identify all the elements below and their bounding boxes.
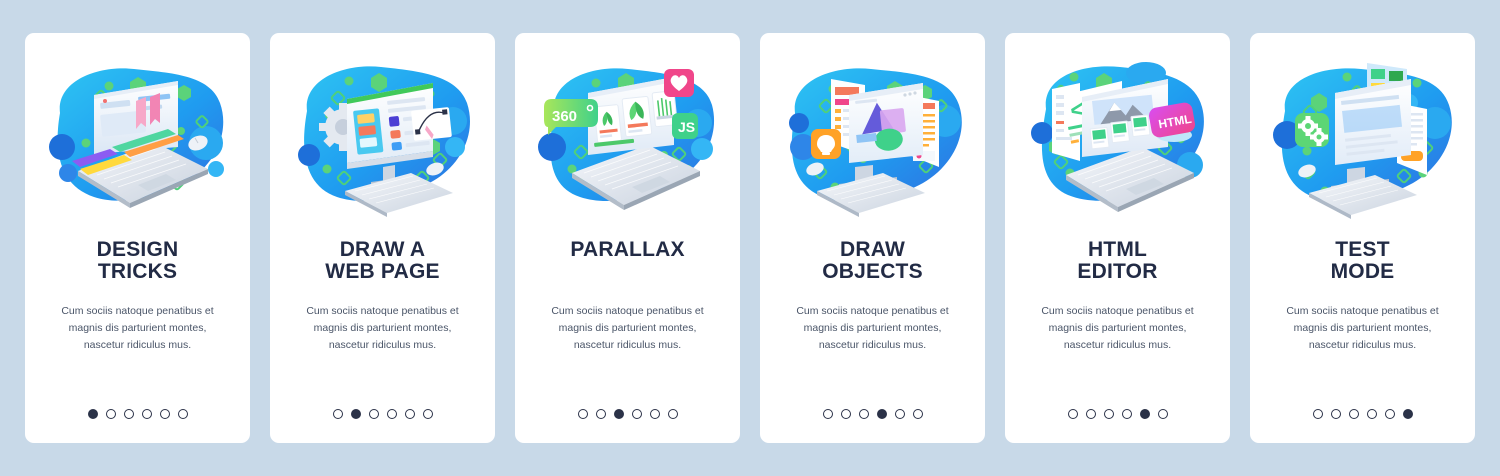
onboarding-card-parallax[interactable]: 360 JS PARALLAX Cum sociis natoque penat…: [515, 33, 740, 443]
onboarding-card-test-mode[interactable]: TEST MODE Cum sociis natoque penatibus e…: [1250, 33, 1475, 443]
title-line-1: PARALLAX: [570, 239, 684, 261]
page-title: TEST MODE: [1323, 239, 1403, 285]
desktop-draw-objects-illustration: [773, 51, 973, 221]
pagination-dot-5[interactable]: [1385, 409, 1395, 419]
title-line-2: TRICKS: [97, 261, 179, 283]
card-description: Cum sociis natoque penatibus et magnis d…: [1028, 303, 1208, 354]
desktop-test-mode-illustration: [1263, 51, 1463, 221]
svg-text:JS: JS: [678, 119, 695, 135]
pagination-dot-3[interactable]: [1104, 409, 1114, 419]
pagination-dot-6[interactable]: [423, 409, 433, 419]
title-line-1: TEST: [1331, 239, 1395, 261]
pagination-dot-2[interactable]: [1086, 409, 1096, 419]
pagination-dot-3[interactable]: [859, 409, 869, 419]
laptop-parallax-illustration: 360 JS: [528, 51, 728, 221]
pagination-dot-5[interactable]: [405, 409, 415, 419]
title-line-1: DRAW: [822, 239, 923, 261]
card-description: Cum sociis natoque penatibus et magnis d…: [48, 303, 228, 354]
title-line-1: DESIGN: [97, 239, 179, 261]
pagination-dots[interactable]: [1250, 409, 1475, 419]
pagination-dot-3[interactable]: [614, 409, 624, 419]
onboarding-card-design-tricks[interactable]: DESIGN TRICKS Cum sociis natoque penatib…: [25, 33, 250, 443]
laptop-design-tricks-illustration: [38, 51, 238, 221]
pagination-dots[interactable]: [270, 409, 495, 419]
desktop-web-page-builder-illustration: [283, 51, 483, 221]
pagination-dot-6[interactable]: [913, 409, 923, 419]
pagination-dots[interactable]: [25, 409, 250, 419]
pen-tool-icon: [411, 107, 452, 141]
title-line-2: EDITOR: [1077, 261, 1157, 283]
svg-text:360: 360: [552, 108, 577, 125]
pagination-dot-4[interactable]: [387, 409, 397, 419]
card-description: Cum sociis natoque penatibus et magnis d…: [293, 303, 473, 354]
page-title: DRAW OBJECTS: [814, 239, 931, 285]
pagination-dot-2[interactable]: [1331, 409, 1341, 419]
title-line-2: OBJECTS: [822, 261, 923, 283]
card-description: Cum sociis natoque penatibus et magnis d…: [538, 303, 718, 354]
pagination-dot-2[interactable]: [841, 409, 851, 419]
heart-icon: [664, 69, 694, 97]
onboarding-card-draw-objects[interactable]: DRAW OBJECTS Cum sociis natoque penatibu…: [760, 33, 985, 443]
page-title: DRAW A WEB PAGE: [317, 239, 447, 285]
onboarding-screens-row: DESIGN TRICKS Cum sociis natoque penatib…: [0, 0, 1500, 476]
pagination-dot-4[interactable]: [877, 409, 887, 419]
pagination-dot-4[interactable]: [1122, 409, 1132, 419]
page-title: DESIGN TRICKS: [89, 239, 187, 285]
pagination-dot-3[interactable]: [369, 409, 379, 419]
js-icon: JS: [672, 113, 698, 139]
pagination-dot-5[interactable]: [160, 409, 170, 419]
title-line-2: MODE: [1331, 261, 1395, 283]
pagination-dot-2[interactable]: [596, 409, 606, 419]
pagination-dot-5[interactable]: [650, 409, 660, 419]
title-line-1: DRAW A: [325, 239, 439, 261]
pagination-dot-3[interactable]: [124, 409, 134, 419]
laptop-html-editor-illustration: </>: [1018, 51, 1218, 221]
pagination-dot-1[interactable]: [333, 409, 343, 419]
pagination-dot-4[interactable]: [142, 409, 152, 419]
page-title: PARALLAX: [562, 239, 692, 285]
card-description: Cum sociis natoque penatibus et magnis d…: [1273, 303, 1453, 354]
gears-icon: [1295, 113, 1329, 147]
bulb-icon: [811, 129, 841, 159]
pagination-dots[interactable]: [515, 409, 740, 419]
pagination-dot-6[interactable]: [178, 409, 188, 419]
pagination-dot-1[interactable]: [578, 409, 588, 419]
title-line-2: WEB PAGE: [325, 261, 439, 283]
pagination-dot-6[interactable]: [1158, 409, 1168, 419]
pagination-dot-2[interactable]: [351, 409, 361, 419]
pagination-dot-1[interactable]: [1068, 409, 1078, 419]
pagination-dots[interactable]: [1005, 409, 1230, 419]
onboarding-card-draw-a-web-page[interactable]: DRAW A WEB PAGE Cum sociis natoque penat…: [270, 33, 495, 443]
pagination-dot-1[interactable]: [823, 409, 833, 419]
pagination-dot-4[interactable]: [1367, 409, 1377, 419]
pagination-dot-4[interactable]: [632, 409, 642, 419]
pagination-dot-5[interactable]: [1140, 409, 1150, 419]
pagination-dot-1[interactable]: [88, 409, 98, 419]
pagination-dot-2[interactable]: [106, 409, 116, 419]
pagination-dot-6[interactable]: [668, 409, 678, 419]
pagination-dot-3[interactable]: [1349, 409, 1359, 419]
onboarding-card-html-editor[interactable]: </>: [1005, 33, 1230, 443]
pagination-dot-5[interactable]: [895, 409, 905, 419]
title-line-1: HTML: [1077, 239, 1157, 261]
pagination-dots[interactable]: [760, 409, 985, 419]
page-title: HTML EDITOR: [1069, 239, 1165, 285]
pagination-dot-6[interactable]: [1403, 409, 1413, 419]
pagination-dot-1[interactable]: [1313, 409, 1323, 419]
card-description: Cum sociis natoque penatibus et magnis d…: [783, 303, 963, 354]
